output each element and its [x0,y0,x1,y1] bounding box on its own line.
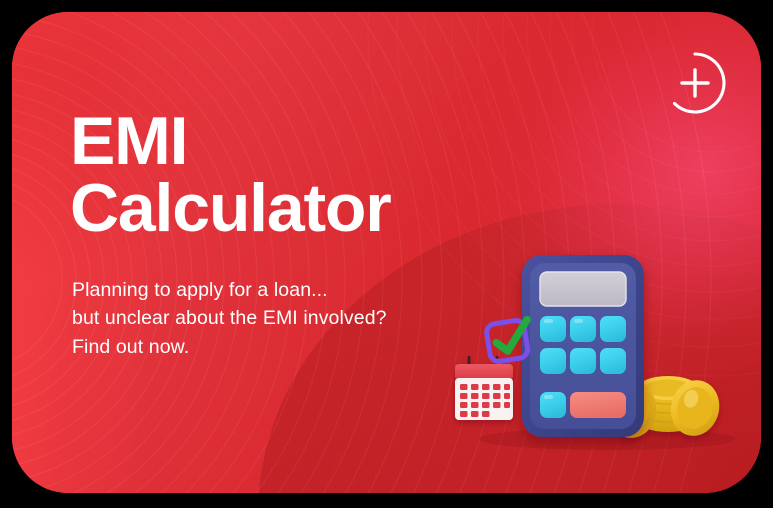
banner-subtext: Planning to apply for a loan... but uncl… [72,276,512,361]
calculator-key [570,316,596,342]
headline-line-1: EMI [70,108,540,175]
calculator-key [570,348,596,374]
emi-calculator-illustration [452,240,761,455]
calculator-key [540,316,566,342]
calculator-key [600,316,626,342]
calculator-icon [522,255,644,437]
checkbox-checked-icon [485,319,532,363]
calculator-display [540,272,626,306]
calculator-key-equals [570,392,626,418]
calculator-key [540,348,566,374]
headline-line-2: Calculator [70,175,540,242]
calendar-header [455,364,513,380]
emi-calculator-banner: EMI Calculator Planning to apply for a l… [12,12,761,493]
subtext-line-1: Planning to apply for a loan... [72,276,512,304]
subtext-line-3: Find out now. [72,333,512,361]
banner-headline: EMI Calculator [70,108,540,243]
plus-circle-icon[interactable] [661,49,729,117]
calendar-icon [455,357,513,420]
subtext-line-2: but unclear about the EMI involved? [72,304,512,332]
calculator-key [540,392,566,418]
calculator-key [600,348,626,374]
